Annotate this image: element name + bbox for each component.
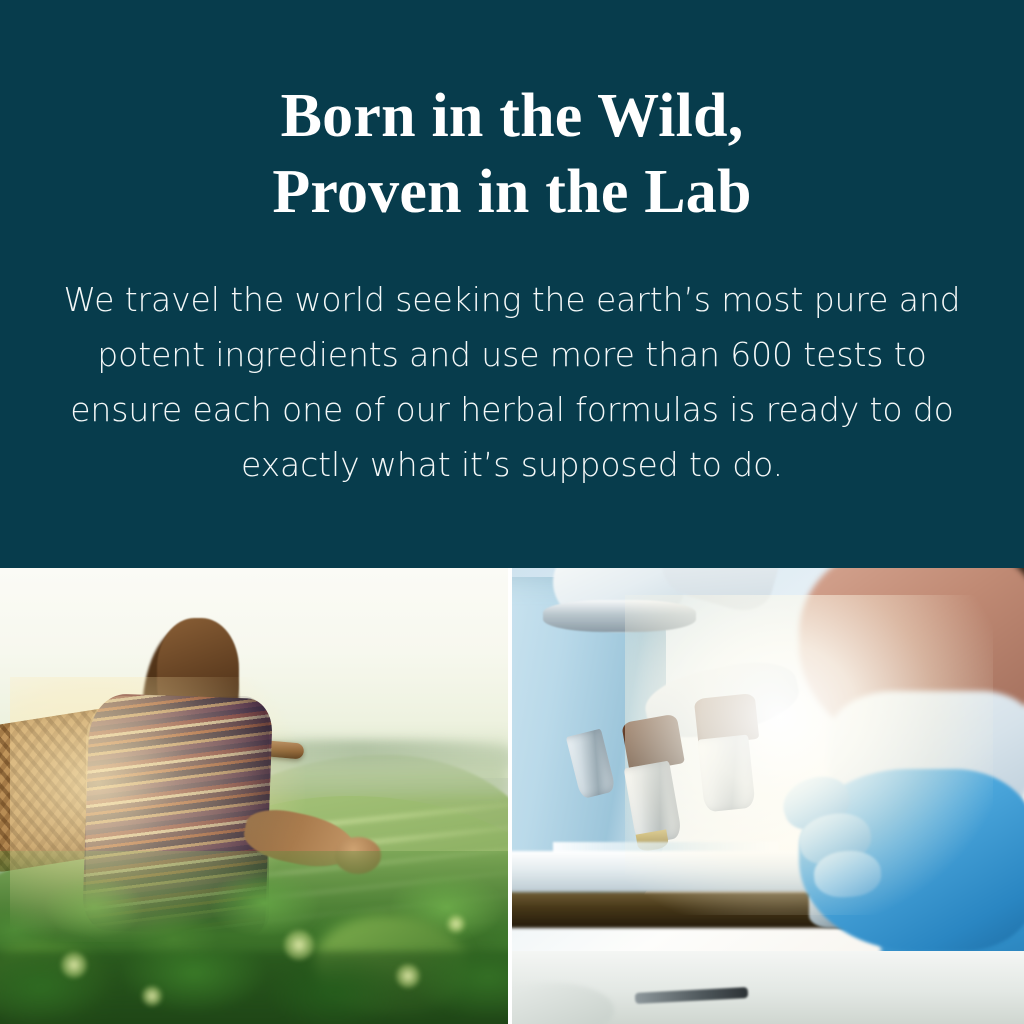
microscope-stage — [512, 851, 809, 892]
body-copy-line-4: exactly what it’s supposed to do. — [62, 437, 962, 492]
bokeh-highlight — [396, 964, 420, 988]
microscope-arm — [512, 892, 860, 928]
brand-promo-banner: Born in the Wild, Proven in the Lab We t… — [0, 0, 1024, 1024]
body-copy-line-3: ensure each one of our herbal formulas i… — [62, 382, 962, 437]
bokeh-highlight — [447, 915, 465, 933]
body-copy-line-1: We travel the world seeking the earth’s … — [62, 272, 962, 327]
headline-line-2: Proven in the Lab — [82, 154, 942, 230]
photo-wild-harvest — [0, 568, 508, 1024]
photo-strip — [0, 568, 1024, 1024]
photo-lab-testing — [512, 568, 1024, 1024]
message-panel: Born in the Wild, Proven in the Lab We t… — [0, 0, 1024, 568]
bokeh-highlight — [142, 986, 162, 1006]
microscope-collar — [543, 600, 697, 632]
objective-lens — [698, 734, 757, 812]
page-title: Born in the Wild, Proven in the Lab — [82, 78, 942, 230]
body-copy-line-2: potent ingredients and use more than 600… — [62, 327, 962, 382]
body-copy: We travel the world seeking the earth’s … — [62, 272, 962, 492]
headline-line-1: Born in the Wild, — [82, 78, 942, 154]
